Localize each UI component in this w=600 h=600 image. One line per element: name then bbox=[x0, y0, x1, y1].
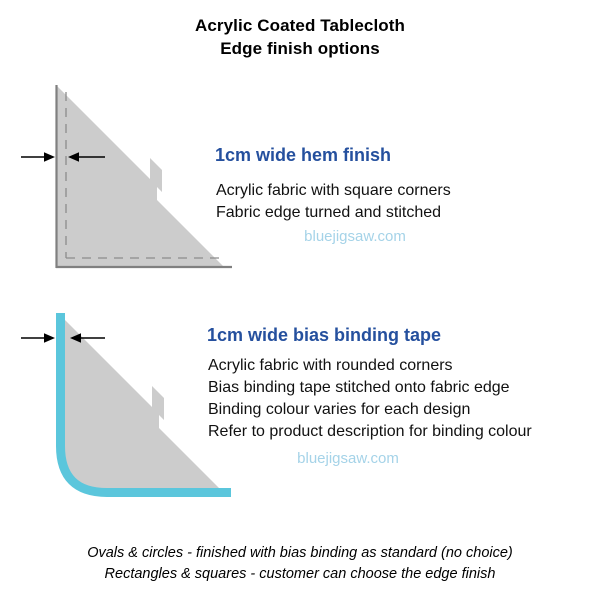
footer-line-1: Ovals & circles - finished with bias bin… bbox=[0, 543, 600, 564]
footer-line-2: Rectangles & squares - customer can choo… bbox=[0, 564, 600, 585]
body-line: Refer to product description for binding… bbox=[208, 421, 532, 443]
site-link[interactable]: bluejigsaw.com bbox=[297, 450, 399, 467]
body-line: Fabric edge turned and stitched bbox=[216, 202, 451, 224]
section-body-hem-finish: Acrylic fabric with square corners Fabri… bbox=[216, 180, 451, 224]
fabric-shape-rounded-corner bbox=[58, 313, 227, 496]
section-heading-hem-finish: 1cm wide hem finish bbox=[215, 145, 391, 166]
body-line: Binding colour varies for each design bbox=[208, 399, 532, 421]
body-line: Bias binding tape stitched onto fabric e… bbox=[208, 377, 532, 399]
edge-finish-diagrams bbox=[0, 0, 600, 600]
site-link-wrapper-hem: bluejigsaw.com bbox=[215, 226, 495, 248]
site-link-wrapper-binding: bluejigsaw.com bbox=[208, 448, 488, 470]
section-heading-bias-binding: 1cm wide bias binding tape bbox=[207, 325, 441, 346]
body-line: Acrylic fabric with rounded corners bbox=[208, 355, 532, 377]
hem-width-arrow-left bbox=[21, 152, 55, 162]
infographic-canvas: Acrylic Coated Tablecloth Edge finish op… bbox=[0, 0, 600, 600]
body-line: Acrylic fabric with square corners bbox=[216, 180, 451, 202]
diagram-hem-finish bbox=[21, 85, 232, 268]
site-link[interactable]: bluejigsaw.com bbox=[304, 228, 406, 245]
footer-note: Ovals & circles - finished with bias bin… bbox=[0, 543, 600, 585]
section-body-bias-binding: Acrylic fabric with rounded corners Bias… bbox=[208, 355, 532, 443]
fabric-shape-square-corner bbox=[56, 85, 225, 268]
tape-width-arrow-left bbox=[21, 333, 55, 343]
diagram-bias-binding bbox=[21, 313, 231, 496]
